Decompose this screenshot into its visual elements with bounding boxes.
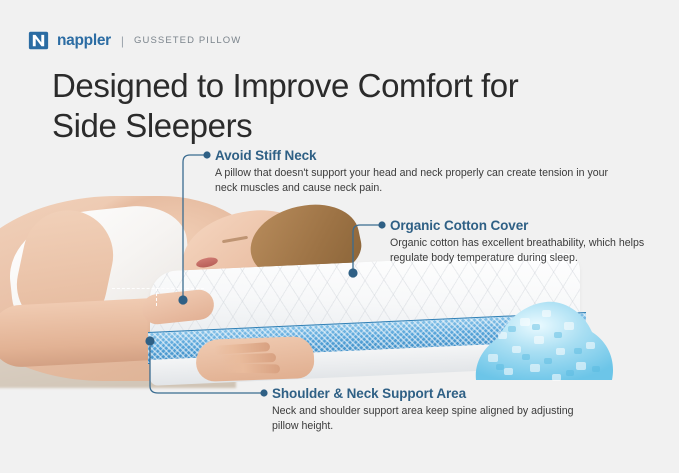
callout-organic-cotton-cover: Organic Cotton Cover Organic cotton has … [390,218,670,266]
callout-title: Organic Cotton Cover [390,218,670,234]
model-finger [224,364,280,374]
height-guide-dashed-line [112,288,204,289]
headline-line-2: Side Sleepers [52,107,252,144]
callout-title: Shoulder & Neck Support Area [272,386,602,402]
page-title: Designed to Improve Comfort for Side Sle… [52,66,612,147]
callout-body: Neck and shoulder support area keep spin… [272,404,602,434]
callout-shoulder-neck-support: Shoulder & Neck Support Area Neck and sh… [272,386,602,434]
headline-line-1: Designed to Improve Comfort for [52,67,518,104]
callout-title: Avoid Stiff Neck [215,148,615,164]
callout-body: Organic cotton has excellent breathabili… [390,236,670,266]
brand-separator: | [121,35,124,47]
brand-lockup: nappler | GUSSETED PILLOW [28,30,241,51]
callout-avoid-stiff-neck: Avoid Stiff Neck A pillow that doesn't s… [215,148,615,196]
infographic-page: nappler | GUSSETED PILLOW Designed to Im… [0,0,679,473]
product-line-label: GUSSETED PILLOW [134,36,241,46]
brand-name: nappler [57,33,111,49]
callout-body: A pillow that doesn't support your head … [215,166,615,196]
shredded-memory-foam-pile [468,288,618,386]
height-guide-dashed-tick [156,288,157,306]
nappler-n-logo-icon [28,30,49,51]
